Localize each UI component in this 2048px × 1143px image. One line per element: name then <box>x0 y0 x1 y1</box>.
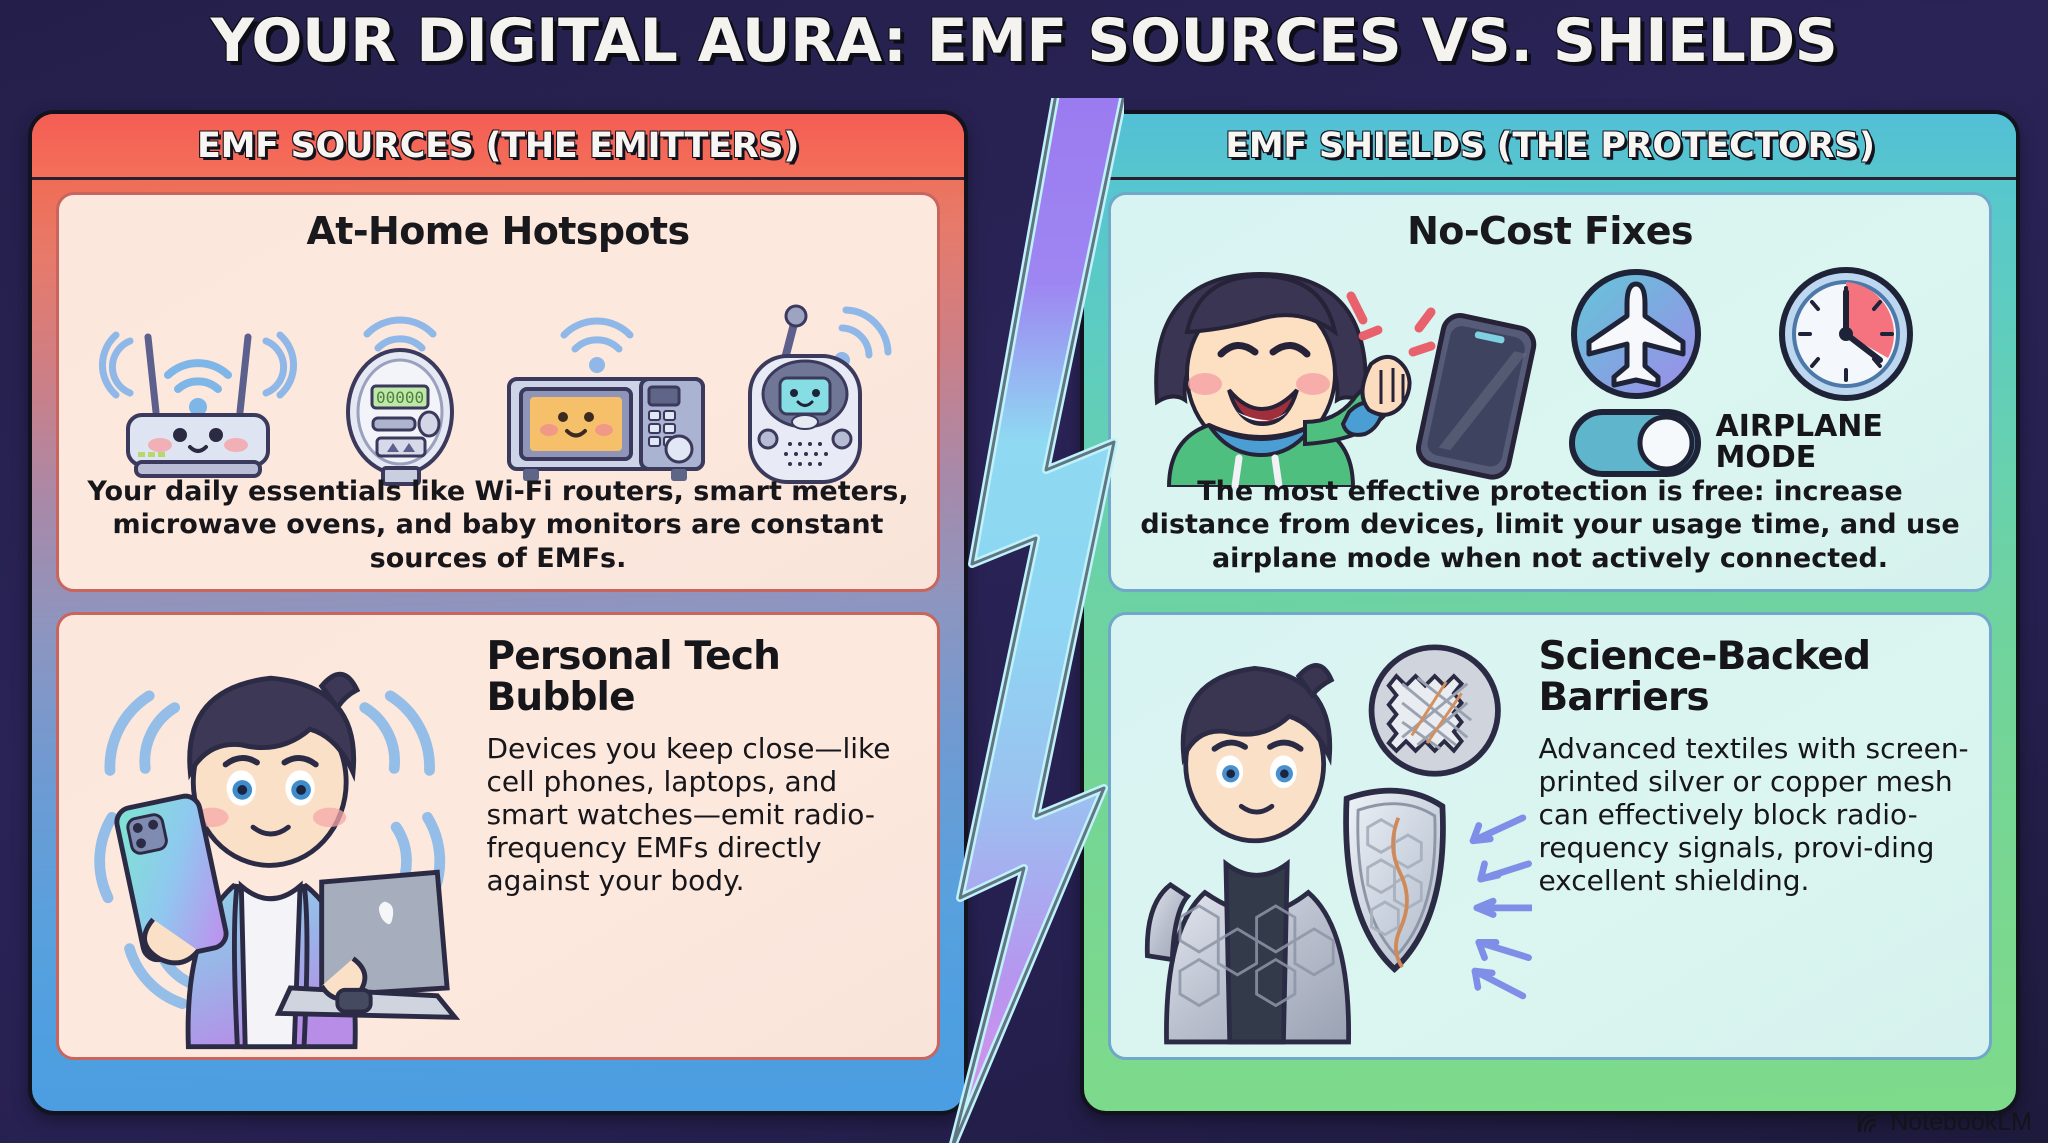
girl-pushing-phone-away-illustration <box>1135 262 1555 487</box>
science-backed-barriers-paragraph: Advanced textiles with screen-printed si… <box>1538 732 1969 897</box>
watermark: NotebookLM <box>1857 1108 2032 1137</box>
personal-tech-bubble-heading: Personal Tech Bubble <box>486 637 917 718</box>
emf-sources-panel: EMF SOURCES (THE EMITTERS) At-Home Hotsp… <box>28 110 968 1115</box>
at-home-hotspots-title: At-Home Hotspots <box>59 209 937 253</box>
at-home-hotspots-card: At-Home Hotspots <box>56 192 940 592</box>
no-cost-fixes-title: No-Cost Fixes <box>1111 209 1989 253</box>
microwave-oven-icon <box>501 287 711 487</box>
at-home-hotspots-icon-row: 00000 <box>59 257 937 487</box>
emf-sources-header-label: EMF SOURCES (THE EMITTERS) <box>197 126 799 166</box>
boy-holding-phone-and-laptop-illustration <box>59 615 480 1057</box>
no-cost-fixes-body: The most effective protection is free: i… <box>1129 475 1971 575</box>
no-cost-fixes-icon-row: AIRPLANE MODE <box>1111 257 1989 487</box>
svg-text:00000: 00000 <box>376 388 424 407</box>
incoming-signal-arrows-icon <box>1473 818 1532 996</box>
watermark-label: NotebookLM <box>1890 1108 2032 1137</box>
personal-tech-bubble-card: Personal Tech Bubble Devices you keep cl… <box>56 612 940 1060</box>
science-backed-barriers-heading: Science-Backed Barriers <box>1538 637 1969 718</box>
personal-tech-bubble-paragraph: Devices you keep close—like cell phones,… <box>486 732 917 897</box>
no-cost-fixes-card: No-Cost Fixes <box>1108 192 1992 592</box>
boy-in-shielding-armor-with-shield-illustration <box>1111 615 1532 1057</box>
science-backed-barriers-card: Science-Backed Barriers Advanced textile… <box>1108 612 1992 1060</box>
airplane-mode-group: AIRPLANE MODE <box>1566 262 1966 487</box>
emf-sources-panel-header: EMF SOURCES (THE EMITTERS) <box>32 114 964 180</box>
smart-meter-icon: 00000 <box>325 282 475 487</box>
at-home-hotspots-body: Your daily essentials like Wi-Fi routers… <box>77 475 919 575</box>
wifi-router-icon <box>98 307 298 487</box>
emf-shields-header-label: EMF SHIELDS (THE PROTECTORS) <box>1225 126 1874 166</box>
baby-monitor-icon <box>738 282 898 487</box>
lightning-bolt-icon <box>938 98 1124 1143</box>
emf-shields-panel: EMF SHIELDS (THE PROTECTORS) No-Cost Fix… <box>1080 110 2020 1115</box>
airplane-mode-label: AIRPLANE MODE <box>1716 412 1966 473</box>
notebooklm-icon <box>1857 1112 1883 1134</box>
emf-shields-panel-header: EMF SHIELDS (THE PROTECTORS) <box>1084 114 2016 180</box>
page-title: YOUR DIGITAL AURA: EMF SOURCES VS. SHIEL… <box>0 6 2048 76</box>
